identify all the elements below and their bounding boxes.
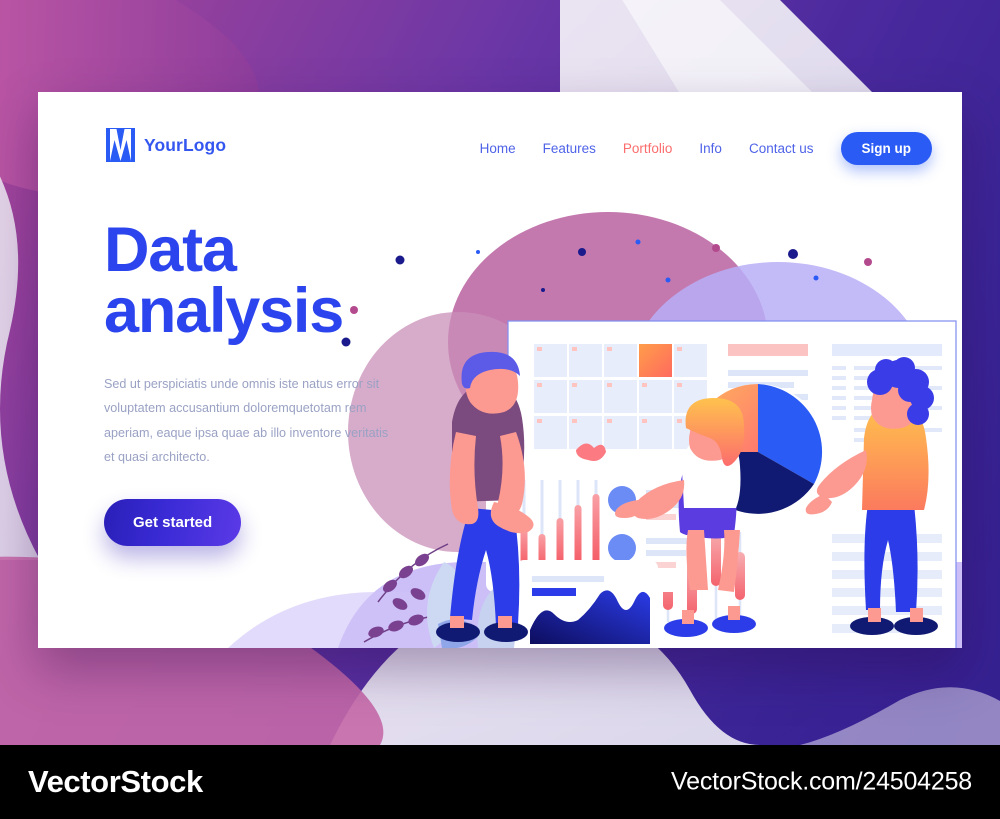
- data-analysis-scene: [338, 132, 962, 648]
- landing-page-card: YourLogo Home Features Portfolio Info Co…: [38, 92, 962, 648]
- get-started-button[interactable]: Get started: [104, 499, 241, 546]
- calendar-highlight-cell: [639, 344, 672, 377]
- hero-copy: Data analysis Sed ut perspiciatis unde o…: [104, 220, 424, 546]
- page-title: Data analysis: [104, 220, 424, 342]
- hero-illustration: [338, 132, 962, 648]
- watermark-footer: VectorStock VectorStock.com/24504258: [0, 745, 1000, 819]
- logo-text: YourLogo: [144, 135, 226, 156]
- page-title-line-2: analysis: [104, 281, 424, 342]
- vectorstock-url: VectorStock.com/24504258: [671, 768, 972, 797]
- area-chart-card: [516, 560, 658, 648]
- hero-paragraph: Sed ut perspiciatis unde omnis iste natu…: [104, 372, 396, 469]
- screenshot-root: YourLogo Home Features Portfolio Info Co…: [0, 0, 1000, 819]
- vectorstock-brand: VectorStock: [28, 764, 203, 800]
- v-monogram-icon: [106, 128, 135, 162]
- calendar-grid-panel: [534, 344, 707, 449]
- page-title-line-1: Data: [104, 215, 236, 285]
- logo[interactable]: YourLogo: [106, 128, 226, 162]
